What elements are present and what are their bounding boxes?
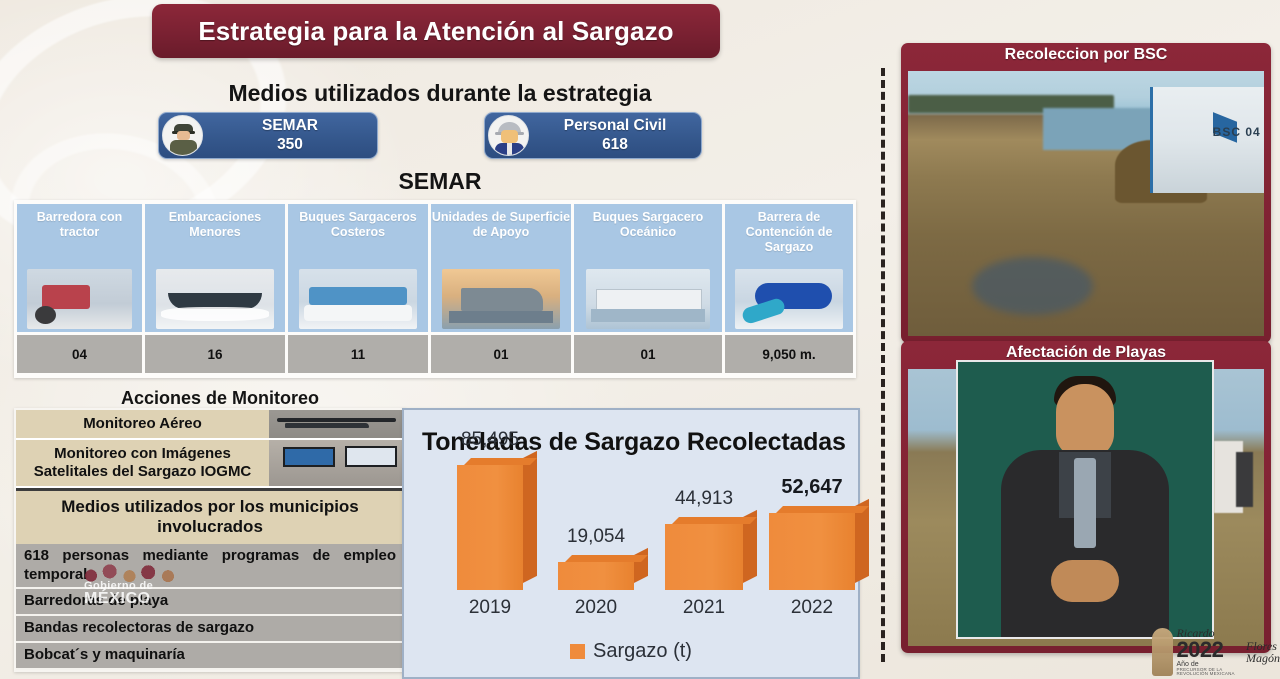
chart-bar-group: 44,913 2021 <box>665 524 743 590</box>
chart-bar-group: 85,495 2019 <box>457 465 523 590</box>
chart-category-label: 2019 <box>469 597 511 619</box>
municipios-list-item: 618 personas mediante programas de emple… <box>16 544 404 590</box>
table-cell-value: 11 <box>288 335 428 373</box>
monitoreo-row: Monitoreo Aéreo <box>16 410 404 440</box>
chart-category-label: 2022 <box>791 597 833 619</box>
personnel-badge-civil: Personal Civil 618 <box>484 112 702 159</box>
chart-plot-area: 85,495 2019 19,054 2020 44,913 2021 <box>404 464 862 624</box>
monitoreo-panel: Monitoreo Aéreo Monitoreo con Imágenes S… <box>14 408 406 672</box>
table-cell-value: 01 <box>574 335 722 373</box>
medios-section-heading: Medios utilizados durante la estrategia <box>140 80 740 107</box>
civil-worker-avatar-icon <box>488 115 529 156</box>
logo-name-line2: Flores <box>1246 640 1280 652</box>
municipios-list-item: Bandas recolectoras de sargazo <box>16 616 404 643</box>
photo-card-recoleccion-bsc: Recoleccion por BSC BSC 04 <box>901 43 1271 343</box>
navy-support-vessel-photo <box>442 269 560 329</box>
personnel-civil-count: 618 <box>529 136 701 155</box>
chart-bar <box>558 562 634 590</box>
coastal-sargassum-ship-photo <box>299 269 417 329</box>
personnel-semar-count: 350 <box>203 136 377 155</box>
satellite-control-room-photo <box>269 440 404 486</box>
monitoreo-label: Monitoreo con Imágenes Satelitales del S… <box>16 440 269 486</box>
table-cell-value: 04 <box>17 335 142 373</box>
table-header-cell: Buques Sargaceros Costeros <box>288 204 428 332</box>
chart-bar <box>457 465 523 590</box>
slide-title-banner: Estrategia para la Atención al Sargazo <box>152 4 720 58</box>
semar-resources-table: Barredora con tractor Embarcaciones Meno… <box>14 200 856 378</box>
table-header-cell: Buques Sargacero Oceánico <box>574 204 722 332</box>
table-header-cell: Barredora con tractor <box>17 204 142 332</box>
tractor-photo <box>27 269 132 329</box>
personnel-semar-name: SEMAR <box>203 117 377 136</box>
table-cell-value: 01 <box>431 335 571 373</box>
chart-category-label: 2021 <box>683 597 725 619</box>
logo-footer: PRECURSOR DE LA REVOLUCIÓN MEXICANA <box>1176 668 1243 677</box>
oceanic-sargassum-ship-photo <box>586 269 710 329</box>
sargassum-containment-barrier-photo <box>735 269 843 329</box>
table-cell-value: 9,050 m. <box>725 335 853 373</box>
chart-legend: Sargazo (t) <box>404 640 858 663</box>
logo-year: 2022 <box>1176 639 1243 661</box>
table-cell-value: 16 <box>145 335 285 373</box>
acciones-monitoreo-heading: Acciones de Monitoreo <box>60 388 380 409</box>
legend-label: Sargazo (t) <box>593 640 692 663</box>
table-header-cell: Embarcaciones Menores <box>145 204 285 332</box>
slide-title-text: Estrategia para la Atención al Sargazo <box>198 16 673 47</box>
chart-bar-value-label: 52,647 <box>781 476 842 499</box>
chart-bar <box>665 524 743 590</box>
photo-caption: Recoleccion por BSC <box>901 43 1271 67</box>
boat-hull-tag: BSC 04 <box>1213 125 1261 139</box>
sargazo-chart-panel: Toneladas de Sargazo Recolectadas 85,495… <box>402 408 860 679</box>
legend-swatch <box>570 644 585 659</box>
chart-category-label: 2020 <box>575 597 617 619</box>
chart-bar-value-label: 19,054 <box>567 526 625 548</box>
municipios-list-item: Barredoras de playa <box>16 589 404 616</box>
table-header-cell: Barrera de Contención de Sargazo <box>725 204 853 332</box>
chart-bar-value-label: 44,913 <box>675 488 733 510</box>
gobierno-2022-logo: Ricardo 2022 Año de PRECURSOR DE LA REVO… <box>1152 624 1280 679</box>
photo-frame: BSC 04 <box>908 71 1264 336</box>
personnel-civil-name: Personal Civil <box>529 117 701 136</box>
small-boat-photo <box>156 269 274 329</box>
sign-language-interpreter-overlay <box>956 360 1214 639</box>
chart-bar-value-label: 85,495 <box>461 429 519 451</box>
helicopter-photo <box>269 410 404 438</box>
municipios-list-item: Bobcat´s y maquinaría <box>16 643 404 670</box>
table-header-cell: Unidades de Superficie de Apoyo <box>431 204 571 332</box>
vertical-dashed-divider <box>881 68 885 662</box>
monitoreo-label: Monitoreo Aéreo <box>16 410 269 438</box>
marine-avatar-icon <box>162 115 203 156</box>
slide-canvas: Estrategia para la Atención al Sargazo M… <box>0 0 1280 679</box>
logo-name-line3: Magón <box>1246 652 1280 664</box>
chart-bar-group: 19,054 2020 <box>558 562 634 590</box>
chart-bar <box>769 513 855 590</box>
table-header-row: Barredora con tractor Embarcaciones Meno… <box>17 204 853 332</box>
chart-bar-group: 52,647 2022 <box>769 513 855 590</box>
personnel-badge-semar: SEMAR 350 <box>158 112 378 159</box>
beach-sargassum-collection-photo: BSC 04 <box>908 71 1264 336</box>
ricardo-flores-magon-figure-icon <box>1152 628 1173 676</box>
semar-section-heading: SEMAR <box>240 168 640 195</box>
table-value-row: 04 16 11 01 01 9,050 m. <box>17 335 853 373</box>
municipios-heading: Medios utilizados por los municipios inv… <box>16 488 404 544</box>
monitoreo-row: Monitoreo con Imágenes Satelitales del S… <box>16 440 404 488</box>
